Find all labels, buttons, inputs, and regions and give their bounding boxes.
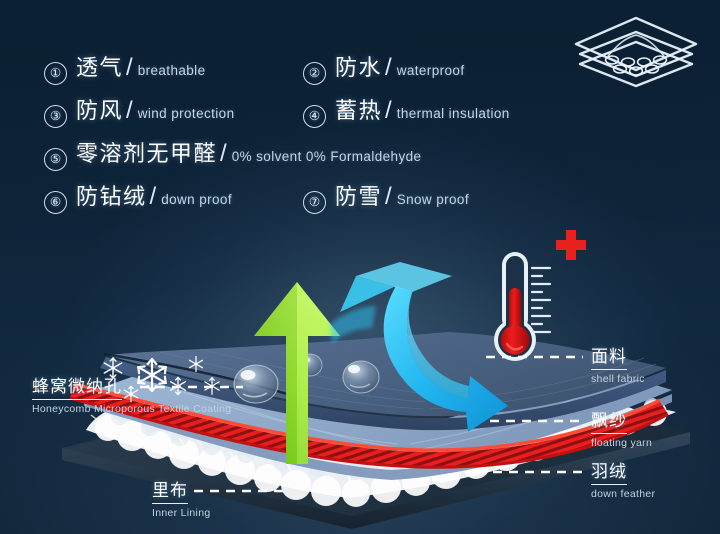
callout-down-feather: 羽绒 down feather <box>591 457 655 500</box>
feature-label-en: Snow proof <box>397 192 469 207</box>
feature-label-cn: 防风 <box>76 93 123 125</box>
feature-item-1: ① 透气 / breathable <box>44 50 206 83</box>
feature-item-3: ③ 防风 / wind protection <box>44 93 235 126</box>
feature-item-5: ⑤ 零溶剂无甲醛 / 0% solvent 0% Formaldehyde <box>44 136 421 169</box>
feature-label-cn: 零溶剂无甲醛 <box>76 136 217 168</box>
feature-label-en: waterproof <box>397 63 465 78</box>
feature-label-en: breathable <box>138 63 206 78</box>
callout-floating-yarn: 飘纱 floating yarn <box>591 406 652 449</box>
feature-label-en: 0% solvent 0% Formaldehyde <box>232 149 422 164</box>
plus-icon <box>556 230 586 260</box>
callout-shell-fabric: 面料 shell fabric <box>591 342 645 385</box>
callout-label-cn: 飘纱 <box>591 406 627 434</box>
feature-label-en: down proof <box>161 192 232 207</box>
feature-list: ① 透气 / breathable ② 防水 / waterproof ③ 防风… <box>0 34 720 219</box>
callout-label-en: Honeycomb Microporous Textile Coating <box>32 403 231 415</box>
callout-label-en: down feather <box>591 488 655 500</box>
water-droplet-icon <box>343 361 379 393</box>
feature-item-6: ⑥ 防钻绒 / down proof <box>44 179 232 212</box>
feature-label-cn: 透气 <box>76 50 123 82</box>
feature-number: ⑦ <box>303 191 326 214</box>
separator-slash: / <box>385 97 392 125</box>
water-droplet-icon <box>234 365 278 403</box>
callout-honeycomb-coating: 蜂窝微纳孔 Honeycomb Microporous Textile Coat… <box>32 372 231 415</box>
fabric-cross-section-illustration: 面料 shell fabric 飘纱 floating yarn 羽绒 down… <box>0 216 720 534</box>
callout-label-en: Inner Lining <box>152 507 210 519</box>
feature-label-cn: 防水 <box>335 50 382 82</box>
callout-label-cn: 羽绒 <box>591 457 627 485</box>
feature-item-7: ⑦ 防雪 / Snow proof <box>303 179 469 212</box>
feature-item-2: ② 防水 / waterproof <box>303 50 464 83</box>
callout-label-cn: 里布 <box>152 476 188 504</box>
separator-slash: / <box>220 140 227 168</box>
separator-slash: / <box>385 183 392 211</box>
feature-item-4: ④ 蓄热 / thermal insulation <box>303 93 510 126</box>
separator-slash: / <box>126 97 133 125</box>
feature-number: ③ <box>44 105 67 128</box>
separator-slash: / <box>126 54 133 82</box>
feature-number: ② <box>303 62 326 85</box>
feature-label-cn: 蓄热 <box>335 93 382 125</box>
feature-label-en: thermal insulation <box>397 106 510 121</box>
callout-inner-lining: 里布 Inner Lining <box>152 476 210 519</box>
callout-label-en: shell fabric <box>591 373 645 385</box>
feature-number: ④ <box>303 105 326 128</box>
feature-label-en: wind protection <box>138 106 235 121</box>
separator-slash: / <box>385 54 392 82</box>
feature-label-cn: 防钻绒 <box>76 179 147 211</box>
callout-label-cn: 面料 <box>591 342 627 370</box>
feature-number: ⑥ <box>44 191 67 214</box>
separator-slash: / <box>150 183 157 211</box>
infographic-poster: ① 透气 / breathable ② 防水 / waterproof ③ 防风… <box>0 0 720 534</box>
feature-number: ⑤ <box>44 148 67 171</box>
feature-number: ① <box>44 62 67 85</box>
callout-label-cn: 蜂窝微纳孔 <box>32 372 122 400</box>
feature-label-cn: 防雪 <box>335 179 382 211</box>
callout-label-en: floating yarn <box>591 437 652 449</box>
